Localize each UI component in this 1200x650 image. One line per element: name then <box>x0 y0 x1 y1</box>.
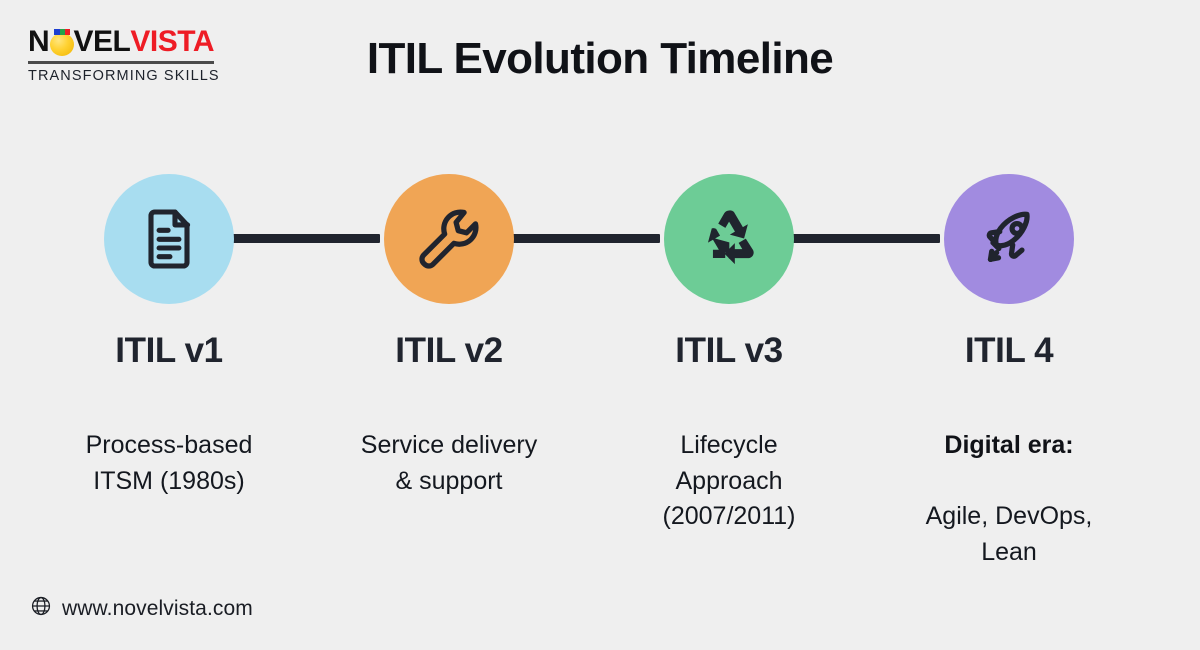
header: N VEL VISTA TRANSFORMING SKILLS ITIL Evo… <box>0 0 1200 110</box>
timeline-connector-2 <box>508 234 660 243</box>
recycle-icon <box>691 201 767 277</box>
column-description: Digital era: Agile, DevOps, Lean <box>869 393 1149 571</box>
timeline-node-itil-v1[interactable] <box>104 174 234 304</box>
timeline-column-itil-v3: ITIL v3 Lifecycle Approach (2007/2011) <box>589 332 869 535</box>
column-description-text: Service delivery & support <box>361 431 537 495</box>
timeline-node-itil-v3[interactable] <box>664 174 794 304</box>
timeline-connector-1 <box>228 234 380 243</box>
column-description: Service delivery & support <box>309 393 589 500</box>
timeline-column-itil-4: ITIL 4 Digital era: Agile, DevOps, Lean <box>869 332 1149 570</box>
column-description: Lifecycle Approach (2007/2011) <box>589 393 869 535</box>
column-description: Process-based ITSM (1980s) <box>29 393 309 500</box>
document-icon <box>133 203 205 275</box>
column-heading: ITIL v3 <box>589 332 869 371</box>
wrench-icon <box>412 202 486 276</box>
page-title: ITIL Evolution Timeline <box>0 34 1200 84</box>
column-heading: ITIL 4 <box>869 332 1149 371</box>
timeline-column-itil-v1: ITIL v1 Process-based ITSM (1980s) <box>29 332 309 499</box>
column-heading: ITIL v2 <box>309 332 589 371</box>
timeline-node-itil-4[interactable] <box>944 174 1074 304</box>
globe-icon <box>30 595 52 622</box>
rocket-icon <box>972 202 1046 276</box>
timeline-node-itil-v2[interactable] <box>384 174 514 304</box>
timeline-column-itil-v2: ITIL v2 Service delivery & support <box>309 332 589 499</box>
footer: www.novelvista.com <box>30 595 253 622</box>
column-description-text: Agile, DevOps, Lean <box>926 502 1093 566</box>
footer-website-url[interactable]: www.novelvista.com <box>62 597 253 621</box>
timeline-connector-3 <box>788 234 940 243</box>
timeline-descriptions: ITIL v1 Process-based ITSM (1980s) ITIL … <box>0 332 1200 562</box>
column-description-lead: Digital era: <box>869 428 1149 464</box>
column-description-text: Lifecycle Approach (2007/2011) <box>663 431 796 530</box>
column-heading: ITIL v1 <box>29 332 309 371</box>
timeline <box>0 160 1200 320</box>
column-description-text: Process-based ITSM (1980s) <box>86 431 253 495</box>
